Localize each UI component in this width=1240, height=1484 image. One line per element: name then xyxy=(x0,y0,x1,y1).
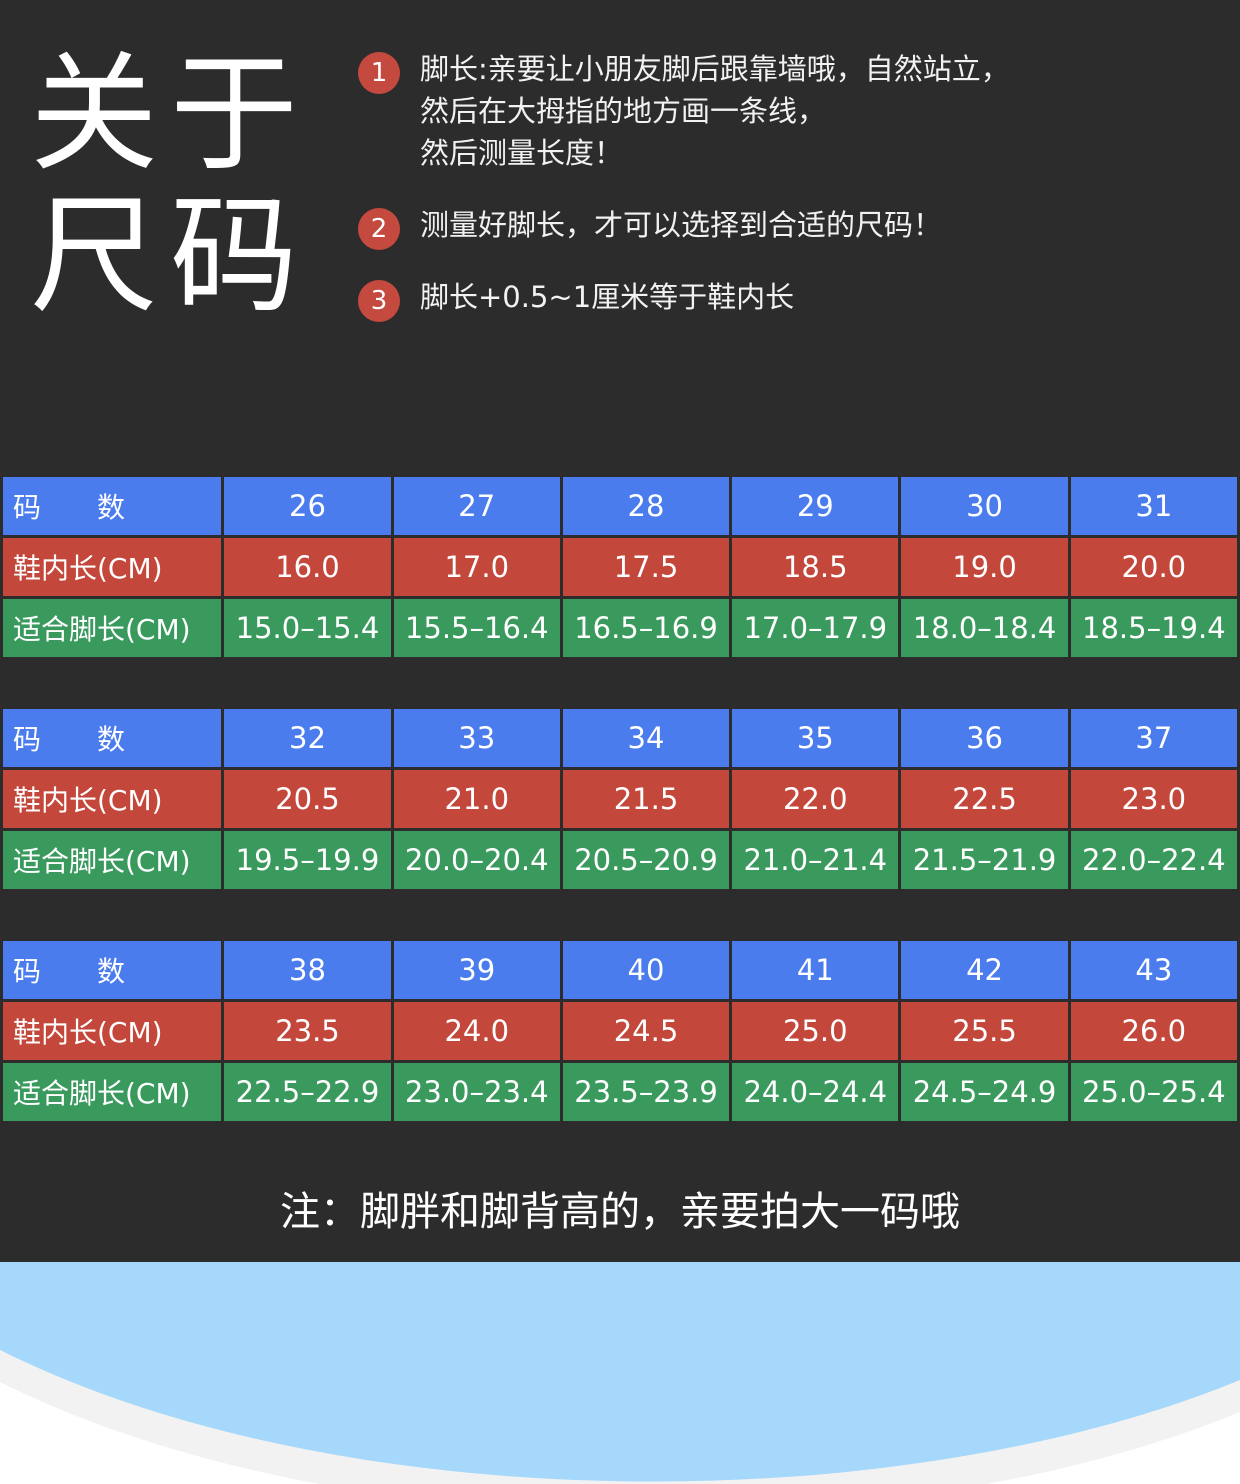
cell-code: 31 xyxy=(1071,477,1237,535)
step-number-badge-2: 2 xyxy=(358,208,400,250)
spacer-cell xyxy=(901,892,1067,938)
cell-code: 40 xyxy=(563,941,729,999)
cell-code: 36 xyxy=(901,709,1067,767)
cell-foot-length: 23.0–23.4 xyxy=(394,1063,560,1121)
step-text-1: 脚长:亲要让小朋友脚后跟靠墙哦，自然站立， 然后在大拇指的地方画一条线， 然后测… xyxy=(420,52,1010,170)
cell-foot-length: 24.0–24.4 xyxy=(732,1063,898,1121)
cell-inner-length: 16.0 xyxy=(224,538,390,596)
cell-inner-length: 21.0 xyxy=(394,770,560,828)
cell-foot-length: 15.0–15.4 xyxy=(224,599,390,657)
size-chart-page: 关于 尺码 1 脚长:亲要让小朋友脚后跟靠墙哦，自然站立， 然后在大拇指的地方画… xyxy=(0,0,1240,1484)
bottom-decoration-banner xyxy=(0,1262,1240,1484)
cell-code: 30 xyxy=(901,477,1067,535)
table-row-inner-length: 鞋内长(CM)16.017.017.518.519.020.0 xyxy=(3,538,1237,596)
step-text-2: 测量好脚长，才可以选择到合适的尺码！ xyxy=(420,208,942,242)
cell-code: 33 xyxy=(394,709,560,767)
cell-foot-length: 22.0–22.4 xyxy=(1071,831,1237,889)
row-label-inner-length: 鞋内长(CM) xyxy=(3,1002,221,1060)
cell-code: 43 xyxy=(1071,941,1237,999)
cell-inner-length: 19.0 xyxy=(901,538,1067,596)
cell-inner-length: 25.5 xyxy=(901,1002,1067,1060)
cell-code: 28 xyxy=(563,477,729,535)
step-number-badge-1: 1 xyxy=(358,52,400,94)
spacer-cell xyxy=(901,660,1067,706)
instruction-steps: 1 脚长:亲要让小朋友脚后跟靠墙哦，自然站立， 然后在大拇指的地方画一条线， 然… xyxy=(358,48,1228,344)
row-label-foot-length: 适合脚长(CM) xyxy=(3,831,221,889)
page-title-line-2: 尺码 xyxy=(30,186,350,328)
row-label-foot-length: 适合脚长(CM) xyxy=(3,1063,221,1121)
spacer-cell xyxy=(563,892,729,938)
cell-foot-length: 21.5–21.9 xyxy=(901,831,1067,889)
instruction-step-1: 1 脚长:亲要让小朋友脚后跟靠墙哦，自然站立， 然后在大拇指的地方画一条线， 然… xyxy=(358,48,1228,174)
table-row-code: 码 数262728293031 xyxy=(3,477,1237,535)
row-label-code: 码 数 xyxy=(3,941,221,999)
cell-foot-length: 15.5–16.4 xyxy=(394,599,560,657)
table-row-inner-length: 鞋内长(CM)23.524.024.525.025.526.0 xyxy=(3,1002,1237,1060)
spacer-cell xyxy=(1071,660,1237,706)
cell-code: 41 xyxy=(732,941,898,999)
cell-code: 39 xyxy=(394,941,560,999)
cell-code: 29 xyxy=(732,477,898,535)
spacer-cell xyxy=(394,660,560,706)
cell-inner-length: 23.0 xyxy=(1071,770,1237,828)
cell-inner-length: 20.0 xyxy=(1071,538,1237,596)
spacer-cell xyxy=(224,892,390,938)
cell-code: 35 xyxy=(732,709,898,767)
page-title: 关于 尺码 xyxy=(30,44,350,328)
cell-inner-length: 18.5 xyxy=(732,538,898,596)
spacer-cell xyxy=(394,892,560,938)
row-label-inner-length: 鞋内长(CM) xyxy=(3,538,221,596)
step-number-badge-3: 3 xyxy=(358,280,400,322)
cell-code: 34 xyxy=(563,709,729,767)
cell-foot-length: 25.0–25.4 xyxy=(1071,1063,1237,1121)
cell-inner-length: 17.0 xyxy=(394,538,560,596)
table-row-code: 码 数323334353637 xyxy=(3,709,1237,767)
spacer-cell xyxy=(1071,892,1237,938)
cell-code: 32 xyxy=(224,709,390,767)
cell-code: 27 xyxy=(394,477,560,535)
instruction-step-2: 2 测量好脚长，才可以选择到合适的尺码！ xyxy=(358,204,1228,246)
cell-code: 37 xyxy=(1071,709,1237,767)
table-row-foot-length: 适合脚长(CM)19.5–19.920.0–20.420.5–20.921.0–… xyxy=(3,831,1237,889)
cell-code: 42 xyxy=(901,941,1067,999)
cell-code: 26 xyxy=(224,477,390,535)
cell-inner-length: 22.5 xyxy=(901,770,1067,828)
cell-foot-length: 22.5–22.9 xyxy=(224,1063,390,1121)
row-label-code: 码 数 xyxy=(3,477,221,535)
cell-inner-length: 21.5 xyxy=(563,770,729,828)
size-tables: 码 数262728293031鞋内长(CM)16.017.017.518.519… xyxy=(0,474,1240,1124)
cell-inner-length: 26.0 xyxy=(1071,1002,1237,1060)
cell-foot-length: 24.5–24.9 xyxy=(901,1063,1067,1121)
cell-inner-length: 23.5 xyxy=(224,1002,390,1060)
spacer-cell xyxy=(732,892,898,938)
table-spacer-row xyxy=(3,660,1237,706)
dark-content-section: 关于 尺码 1 脚长:亲要让小朋友脚后跟靠墙哦，自然站立， 然后在大拇指的地方画… xyxy=(0,0,1240,1262)
spacer-cell xyxy=(224,660,390,706)
table-row-inner-length: 鞋内长(CM)20.521.021.522.022.523.0 xyxy=(3,770,1237,828)
cell-code: 38 xyxy=(224,941,390,999)
table-row-foot-length: 适合脚长(CM)15.0–15.415.5–16.416.5–16.917.0–… xyxy=(3,599,1237,657)
cell-foot-length: 18.0–18.4 xyxy=(901,599,1067,657)
table-row-code: 码 数383940414243 xyxy=(3,941,1237,999)
cell-foot-length: 16.5–16.9 xyxy=(563,599,729,657)
cell-inner-length: 24.0 xyxy=(394,1002,560,1060)
cell-foot-length: 17.0–17.9 xyxy=(732,599,898,657)
cell-foot-length: 20.5–20.9 xyxy=(563,831,729,889)
cell-foot-length: 23.5–23.9 xyxy=(563,1063,729,1121)
table-spacer-row xyxy=(3,892,1237,938)
instruction-step-3: 3 脚长+0.5~1厘米等于鞋内长 xyxy=(358,276,1228,318)
header: 关于 尺码 1 脚长:亲要让小朋友脚后跟靠墙哦，自然站立， 然后在大拇指的地方画… xyxy=(0,0,1240,474)
cell-foot-length: 20.0–20.4 xyxy=(394,831,560,889)
spacer-cell xyxy=(3,892,221,938)
cell-foot-length: 21.0–21.4 xyxy=(732,831,898,889)
spacer-cell xyxy=(732,660,898,706)
banner-curve-graphic xyxy=(0,1262,1240,1484)
row-label-code: 码 数 xyxy=(3,709,221,767)
cell-inner-length: 22.0 xyxy=(732,770,898,828)
cell-inner-length: 25.0 xyxy=(732,1002,898,1060)
size-table: 码 数262728293031鞋内长(CM)16.017.017.518.519… xyxy=(0,474,1240,1124)
spacer-cell xyxy=(563,660,729,706)
spacer-cell xyxy=(3,660,221,706)
cell-inner-length: 24.5 xyxy=(563,1002,729,1060)
cell-inner-length: 17.5 xyxy=(563,538,729,596)
cell-inner-length: 20.5 xyxy=(224,770,390,828)
footer-note: 注：脚胖和脚背高的，亲要拍大一码哦 xyxy=(0,1162,1240,1262)
cell-foot-length: 19.5–19.9 xyxy=(224,831,390,889)
cell-foot-length: 18.5–19.4 xyxy=(1071,599,1237,657)
row-label-inner-length: 鞋内长(CM) xyxy=(3,770,221,828)
row-label-foot-length: 适合脚长(CM) xyxy=(3,599,221,657)
page-title-line-1: 关于 xyxy=(30,44,350,186)
table-row-foot-length: 适合脚长(CM)22.5–22.923.0–23.423.5–23.924.0–… xyxy=(3,1063,1237,1121)
step-text-3: 脚长+0.5~1厘米等于鞋内长 xyxy=(420,280,794,314)
